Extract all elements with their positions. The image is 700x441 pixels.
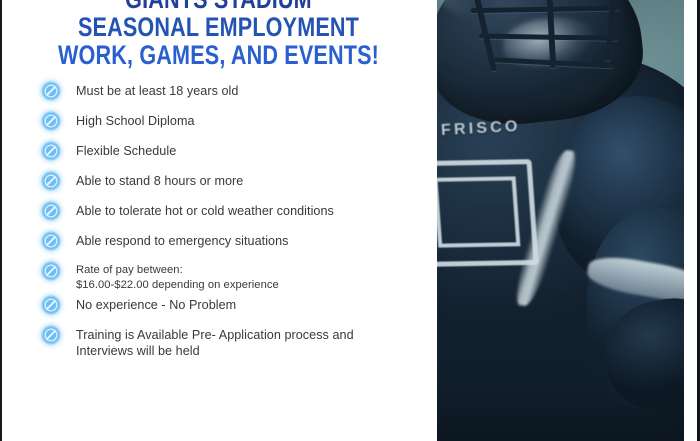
- jersey-number: [437, 159, 539, 267]
- list-item-label: Training is Available Pre- Application p…: [76, 326, 370, 359]
- headline-line-seasonal-employment: SEASONAL EMPLOYMENT: [44, 14, 394, 42]
- blue-circle-slash-icon: [40, 110, 62, 132]
- list-item: Flexible Schedule: [40, 142, 370, 162]
- blue-circle-slash-icon: [40, 260, 62, 282]
- list-item: Able respond to emergency situations: [40, 232, 370, 252]
- blue-circle-slash-icon: [40, 170, 62, 192]
- list-item-label: Able respond to emergency situations: [76, 232, 289, 249]
- list-item-label: No experience - No Problem: [76, 296, 236, 313]
- blue-circle-slash-icon: [40, 230, 62, 252]
- blue-circle-slash-icon: [40, 140, 62, 162]
- blue-circle-slash-icon: [40, 80, 62, 102]
- list-item: Training is Available Pre- Application p…: [40, 326, 370, 359]
- headline-line-work-games-events: WORK, GAMES, AND EVENTS!: [44, 42, 394, 70]
- poster-right-margin: [684, 0, 697, 441]
- poster-left-border: [0, 0, 2, 441]
- helmet-facemask: [470, 0, 645, 87]
- blue-circle-slash-icon: [40, 324, 62, 346]
- blue-circle-slash-icon: [40, 294, 62, 316]
- list-item-label: Must be at least 18 years old: [76, 82, 238, 99]
- jersey-number-inner: [437, 176, 520, 247]
- list-item-label: Flexible Schedule: [76, 142, 176, 159]
- list-item: Rate of pay between: $16.00-$22.00 depen…: [40, 262, 370, 292]
- list-item-label-rate-of-pay: Rate of pay between: $16.00-$22.00 depen…: [76, 262, 279, 292]
- requirements-list: Must be at least 18 years old High Schoo…: [40, 82, 370, 369]
- list-item: Must be at least 18 years old: [40, 82, 370, 102]
- list-item: Able to stand 8 hours or more: [40, 172, 370, 192]
- list-item: High School Diploma: [40, 112, 370, 132]
- list-item-label: Able to tolerate hot or cold weather con…: [76, 202, 334, 219]
- job-posting-poster: GIANTS STADIUM SEASONAL EMPLOYMENT WORK,…: [0, 0, 700, 441]
- list-item-label: Able to stand 8 hours or more: [76, 172, 243, 189]
- list-item: Able to tolerate hot or cold weather con…: [40, 202, 370, 222]
- poster-headline: GIANTS STADIUM SEASONAL EMPLOYMENT WORK,…: [0, 0, 437, 69]
- blue-circle-slash-icon: [40, 200, 62, 222]
- list-item-label: High School Diploma: [76, 112, 195, 129]
- list-item: No experience - No Problem: [40, 296, 370, 316]
- football-player-photo: FRISCO: [437, 0, 684, 441]
